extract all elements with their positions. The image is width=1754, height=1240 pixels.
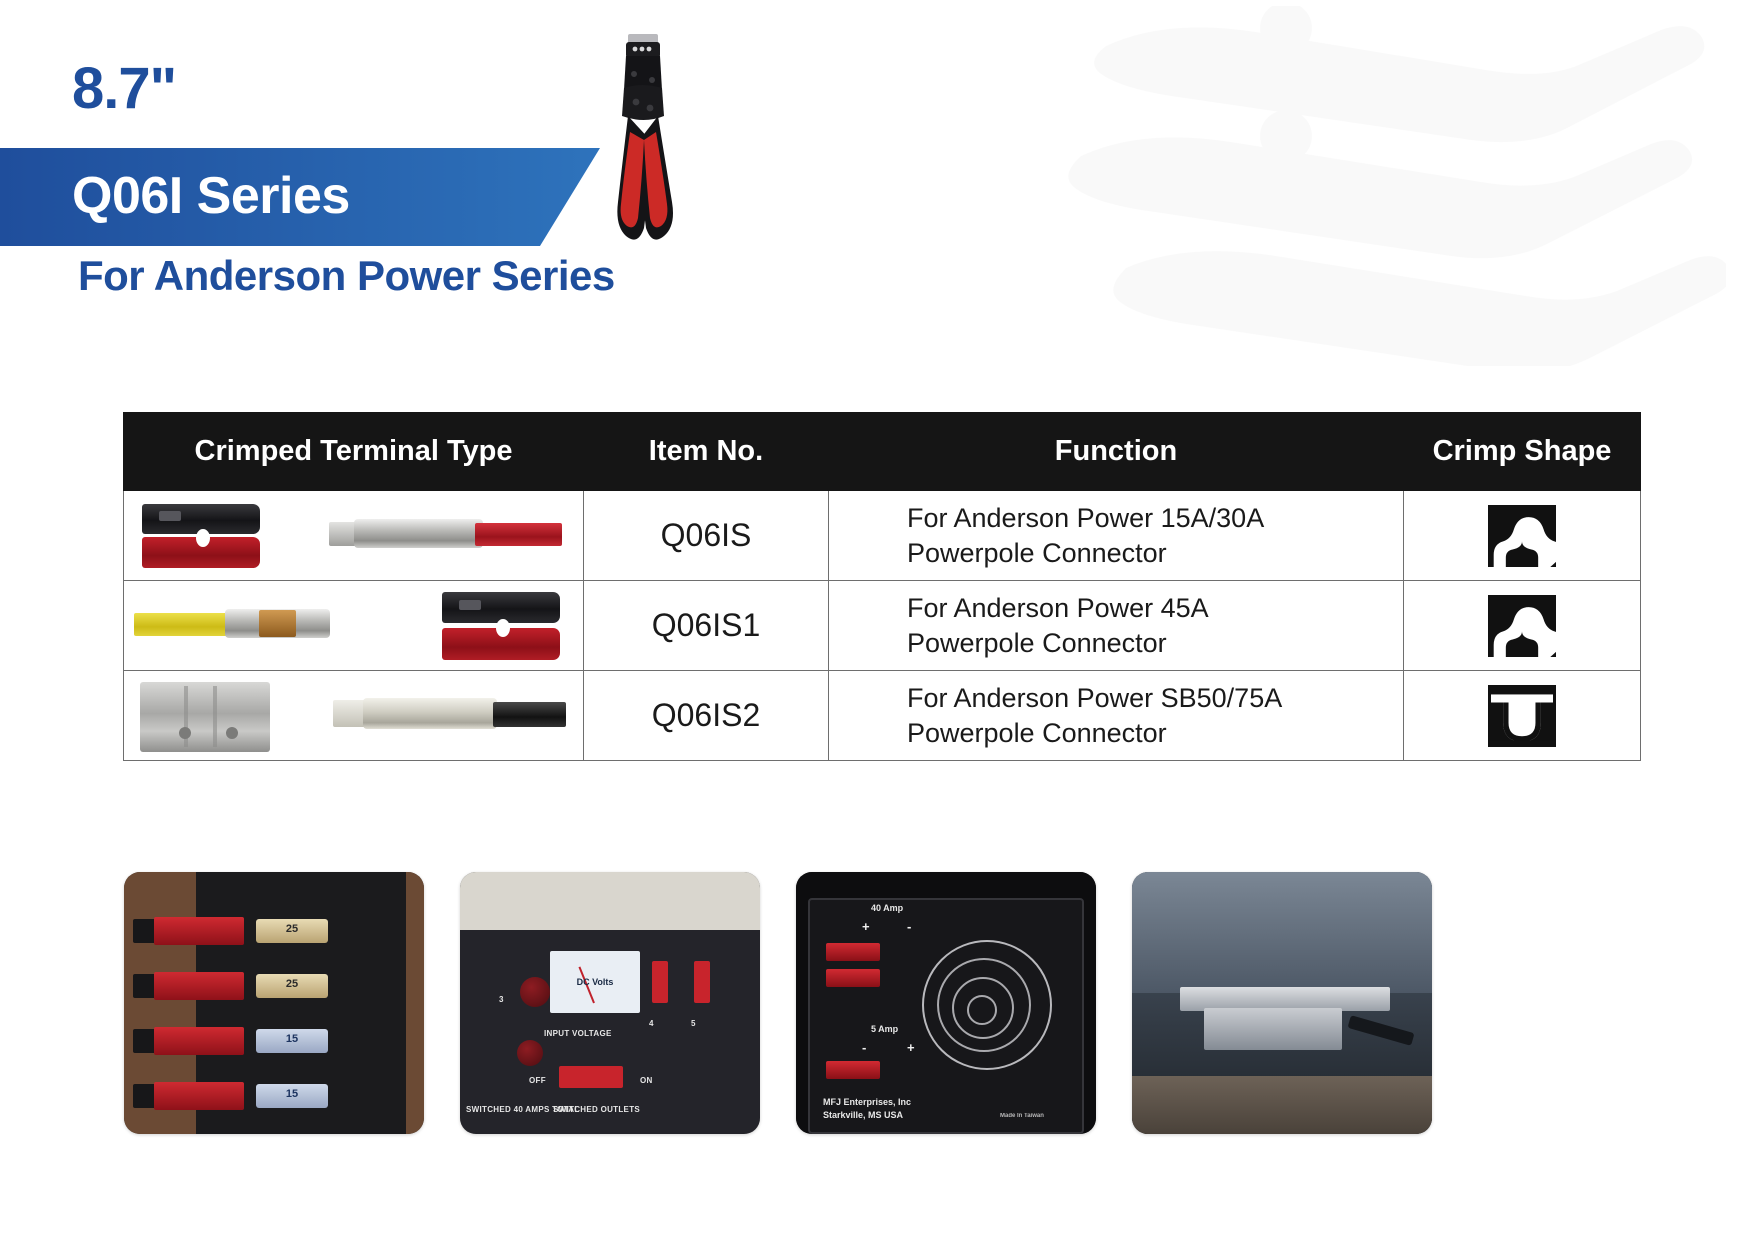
item-no-row1: Q06IS xyxy=(584,491,829,581)
panel-number-3: 3 xyxy=(499,995,504,1004)
table-row: Q06IS2 For Anderson Power SB50/75A Power… xyxy=(124,671,1641,761)
plus-symbol-5a: + xyxy=(907,1040,915,1055)
panel-number-4: 4 xyxy=(649,1019,654,1028)
table-header-row: Crimped Terminal Type Item No. Function … xyxy=(124,413,1641,491)
powerpole-port xyxy=(826,1061,880,1079)
photo-mfj-power-supply-rear: 40 Amp + - 5 Amp - + MFJ Enterprises, In… xyxy=(796,872,1096,1134)
header-subtitle: For Anderson Power Series xyxy=(78,252,615,300)
function-row1: For Anderson Power 15A/30A Powerpole Con… xyxy=(829,491,1404,581)
item-no-row3: Q06IS2 xyxy=(584,671,829,761)
port-5amp-label: 5 Amp xyxy=(871,1024,898,1034)
application-photo-gallery: 25 25 15 15 DC Volts 3 INPUT VOLTAGE xyxy=(124,872,1624,1137)
terminal-photo-cell-row3 xyxy=(124,671,584,761)
u-shape-icon xyxy=(1488,685,1556,747)
yellow-wire-crimped-contact-icon xyxy=(134,600,362,652)
crimping-tool-icon xyxy=(588,28,698,253)
table-row: Q06IS For Anderson Power 15A/30A Powerpo… xyxy=(124,491,1641,581)
crimp-shape-cell-row2 xyxy=(1404,581,1641,671)
terminal-photo-cell-row2 xyxy=(124,581,584,671)
panel-knob xyxy=(517,1040,543,1066)
crimp-shape-cell-row3 xyxy=(1404,671,1641,761)
function-line-2: Powerpole Connector xyxy=(907,626,1403,661)
fuse-label: 15 xyxy=(256,1029,328,1053)
toggle-switch[interactable] xyxy=(652,961,668,1003)
product-spec-sheet: 8.7" Q06I Series For Anderson Power Seri… xyxy=(0,0,1754,1240)
function-line-1: For Anderson Power SB50/75A xyxy=(907,681,1403,716)
photo-dc-power-panel: DC Volts 3 INPUT VOLTAGE 4 5 OFF ON SWIT… xyxy=(460,872,760,1134)
column-header-crimp-shape: Crimp Shape xyxy=(1404,413,1641,491)
series-name: Q06I Series xyxy=(72,166,350,226)
origin-label: Made In Taiwan xyxy=(1000,1113,1044,1119)
on-label: ON xyxy=(640,1076,653,1085)
background-watermark-tool-icon xyxy=(986,6,1726,366)
dc-volts-meter: DC Volts xyxy=(550,951,640,1014)
off-label: OFF xyxy=(529,1076,546,1085)
powerpole-port xyxy=(826,969,880,987)
port-40amp-label: 40 Amp xyxy=(871,903,903,913)
crimp-shape-cell-row1 xyxy=(1404,491,1641,581)
grey-sb-housing-icon xyxy=(140,682,270,752)
function-row3: For Anderson Power SB50/75A Powerpole Co… xyxy=(829,671,1404,761)
brand-line-2: Starkville, MS USA xyxy=(823,1110,903,1120)
function-line-1: For Anderson Power 15A/30A xyxy=(907,501,1403,536)
specification-table: Crimped Terminal Type Item No. Function … xyxy=(123,412,1641,761)
dc-volts-label: DC Volts xyxy=(550,977,640,987)
fuse-label: 25 xyxy=(256,974,328,998)
fuse-label: 15 xyxy=(256,1084,328,1108)
powerpole-housing-black-red-icon xyxy=(142,504,260,568)
function-row2: For Anderson Power 45A Powerpole Connect… xyxy=(829,581,1404,671)
function-line-2: Powerpole Connector xyxy=(907,536,1403,571)
tool-size-label: 8.7" xyxy=(72,55,176,122)
column-header-function: Function xyxy=(829,413,1404,491)
function-line-1: For Anderson Power 45A xyxy=(907,591,1403,626)
terminal-photo-cell-row1 xyxy=(124,491,584,581)
double-crest-m-shape-icon xyxy=(1488,505,1556,567)
minus-symbol-5a: - xyxy=(862,1040,866,1055)
toggle-switch[interactable] xyxy=(694,961,710,1003)
minus-symbol-40a: - xyxy=(907,919,911,934)
fuse-label: 25 xyxy=(256,919,328,943)
column-header-item-no: Item No. xyxy=(584,413,829,491)
double-crest-m-shape-icon xyxy=(1488,595,1556,657)
input-voltage-label: INPUT VOLTAGE xyxy=(544,1029,612,1038)
brand-line-1: MFJ Enterprises, Inc xyxy=(823,1097,911,1107)
photo-vehicle-mounted-connector xyxy=(1132,872,1432,1134)
total-amps-label: SWITCHED 40 AMPS TOTAL xyxy=(466,1105,580,1114)
table-row: Q06IS1 For Anderson Power 45A Powerpole … xyxy=(124,581,1641,671)
series-banner: Q06I Series xyxy=(0,148,600,246)
large-contact-black-wire-icon xyxy=(350,688,566,744)
main-rocker-switch[interactable] xyxy=(559,1066,623,1088)
panel-number-5: 5 xyxy=(691,1019,696,1028)
silver-contact-red-wire-icon xyxy=(354,510,562,562)
plus-symbol-40a: + xyxy=(862,919,870,934)
column-header-crimped-terminal-type: Crimped Terminal Type xyxy=(124,413,584,491)
powerpole-port xyxy=(826,943,880,961)
input-jack xyxy=(520,977,550,1007)
item-no-row2: Q06IS1 xyxy=(584,581,829,671)
powerpole-housing-black-red-icon xyxy=(442,592,560,660)
photo-fuse-block-with-red-powerpole-connectors: 25 25 15 15 xyxy=(124,872,424,1134)
function-line-2: Powerpole Connector xyxy=(907,716,1403,751)
mounted-connector-block xyxy=(1204,1008,1342,1050)
